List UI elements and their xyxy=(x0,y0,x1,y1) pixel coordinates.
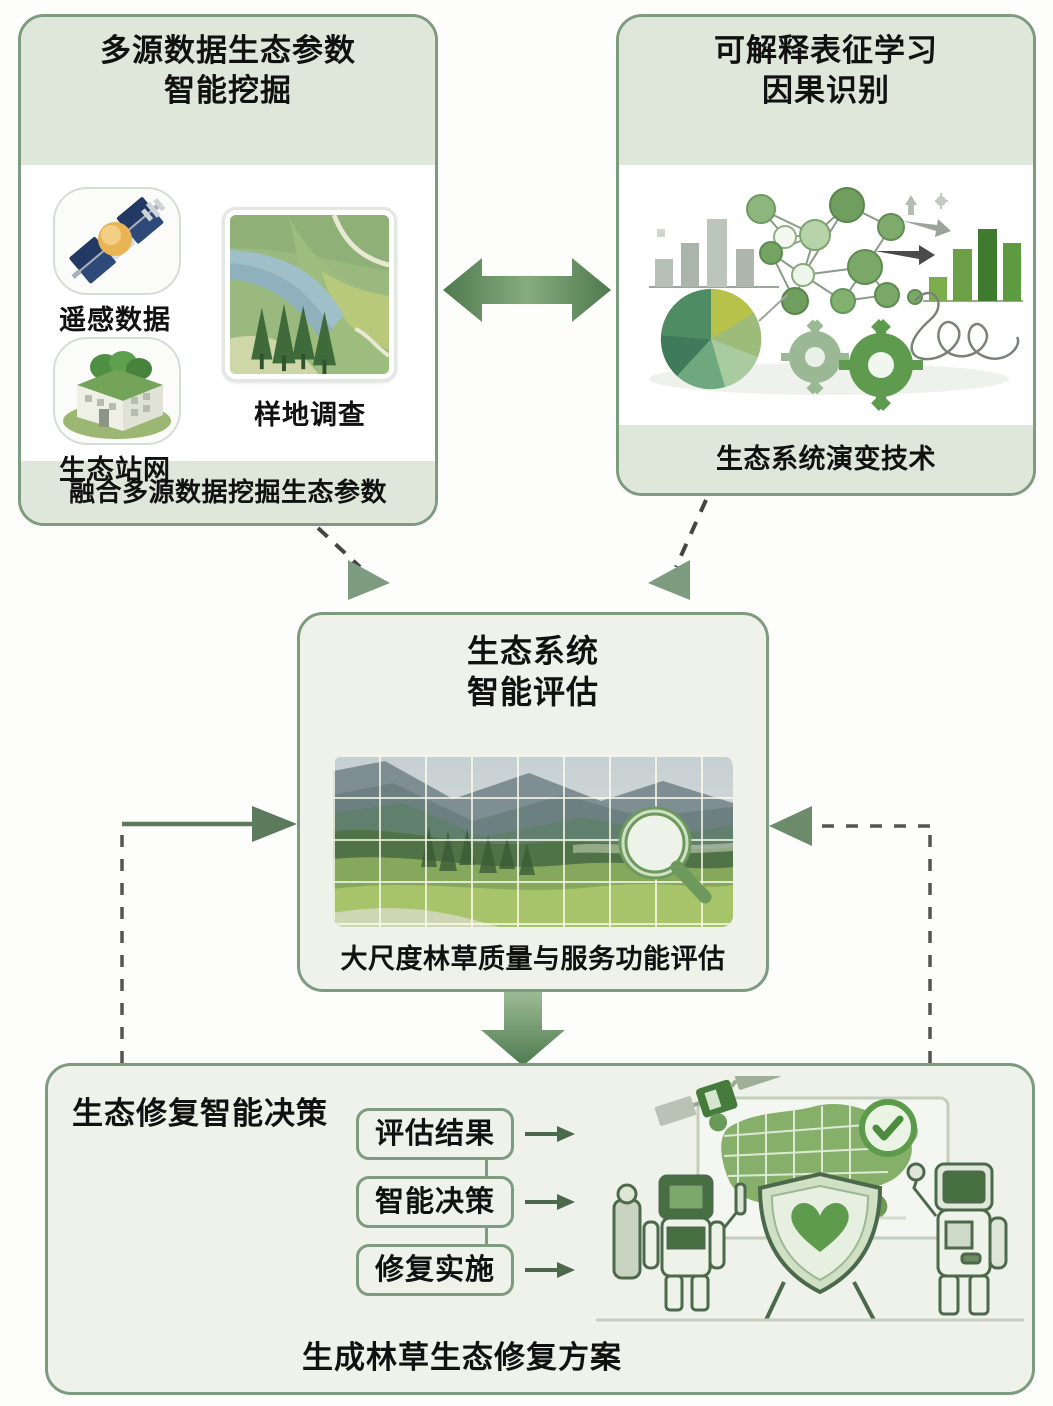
magnifier-icon[interactable] xyxy=(333,755,733,927)
panel-multisource-title-line2: 智能挖掘 xyxy=(29,71,427,111)
panel-interpretable-body xyxy=(619,165,1033,425)
panel-assessment-title-line2: 智能评估 xyxy=(308,672,758,713)
pie-chart xyxy=(661,289,762,389)
satellite-label: 遥感数据 xyxy=(40,298,190,337)
arrow-bidirectional-top xyxy=(443,258,611,322)
panel-restoration-decision[interactable]: 生态修复智能决策 评估结果 智能决策 修复实施 xyxy=(45,1063,1035,1395)
panel-restoration-body: 生态修复智能决策 评估结果 智能决策 修复实施 xyxy=(48,1066,1032,1392)
field-plot-label: 样地调查 xyxy=(235,393,385,432)
satellite-icon-glyph xyxy=(55,189,179,293)
arrow-multisource-to-assessment xyxy=(318,528,390,600)
arrow-restoration-feedback-right xyxy=(769,806,930,1063)
step-arrow-1 xyxy=(525,1126,575,1142)
diagram-canvas: 多源数据生态参数 智能挖掘 xyxy=(0,0,1053,1406)
panel-assessment-title-line1: 生态系统 xyxy=(308,631,758,672)
panel-multisource-body: 遥感数据 xyxy=(21,165,435,461)
panel-multisource-header: 多源数据生态参数 智能挖掘 xyxy=(21,17,435,165)
satellite-icon[interactable] xyxy=(53,187,181,295)
step-arrow-3 xyxy=(525,1262,575,1278)
eco-station-icon-glyph xyxy=(55,339,179,443)
field-plot-photo[interactable] xyxy=(222,207,397,382)
panel-multisource-data[interactable]: 多源数据生态参数 智能挖掘 xyxy=(18,14,438,526)
step-arrow-2 xyxy=(525,1194,575,1210)
panel-interpretable-footer: 生态系统演变技术 xyxy=(619,425,1033,493)
panel-restoration-footer: 生成林草生态修复方案 xyxy=(302,1332,622,1377)
gridded-landscape-magnifier[interactable] xyxy=(333,755,733,927)
panel-assessment-footer: 大尺度林草质量与服务功能评估 xyxy=(300,929,766,989)
panel-assessment-header: 生态系统 智能评估 xyxy=(300,615,766,755)
panel-ecosystem-assessment[interactable]: 生态系统 智能评估 xyxy=(297,612,769,992)
shield-heart-icon xyxy=(760,1174,880,1320)
panel-multisource-title-line1: 多源数据生态参数 xyxy=(29,31,427,71)
robots-eco-map-shield xyxy=(588,1076,1028,1326)
arrow-interpretable-to-assessment xyxy=(648,500,706,600)
eco-station-icon[interactable] xyxy=(53,337,181,445)
eco-station-label: 生态站网 xyxy=(40,448,190,487)
panel-interpretable-header: 可解释表征学习 因果识别 xyxy=(619,17,1033,165)
field-plot-photo-image xyxy=(230,215,389,374)
arrow-restoration-feedback-left xyxy=(122,806,297,1063)
analytics-network-illustration xyxy=(619,171,1036,421)
arrow-assessment-to-restoration xyxy=(481,992,565,1066)
panel-assessment-body xyxy=(300,755,766,929)
panel-interpretable-title-line1: 可解释表征学习 xyxy=(627,31,1025,71)
panel-interpretable-title-line2: 因果识别 xyxy=(627,71,1025,111)
panel-interpretable-learning[interactable]: 可解释表征学习 因果识别 xyxy=(616,14,1036,496)
